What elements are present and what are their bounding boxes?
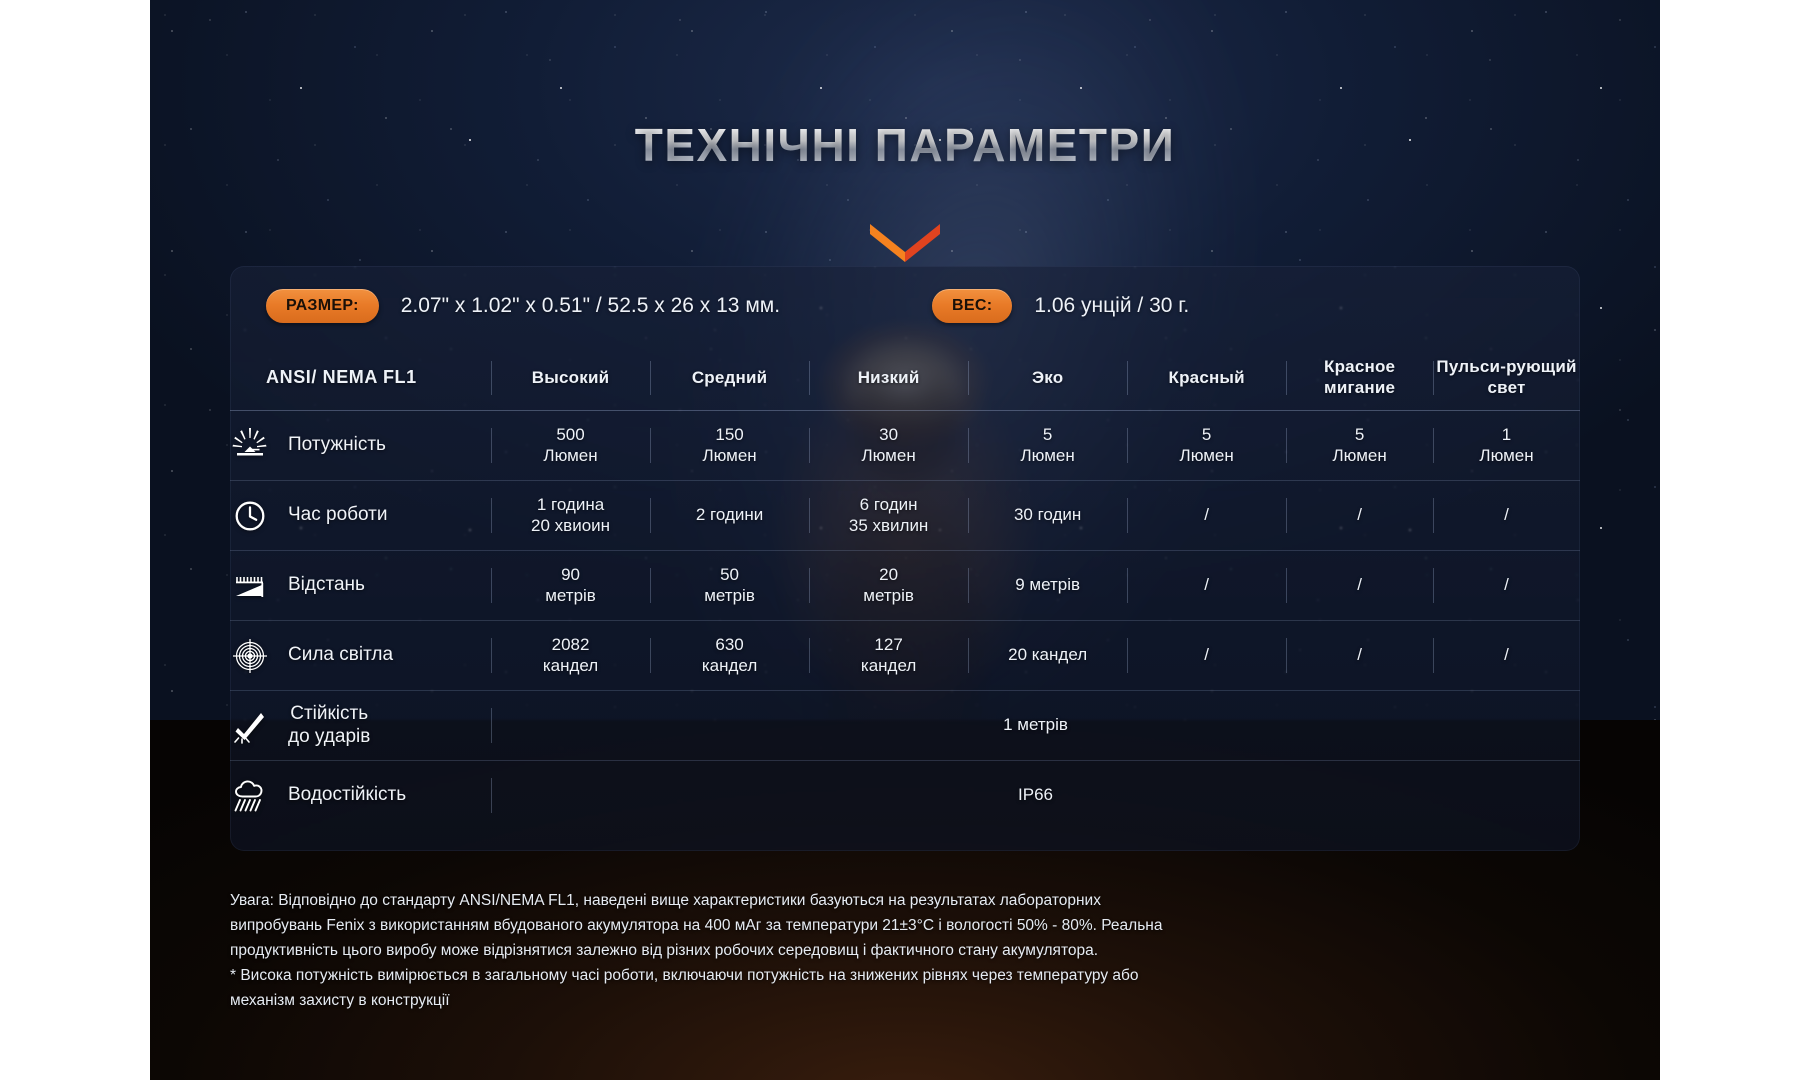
table-header: ANSI/ NEMA FL1 Высокий Средний Низкий Эк… — [230, 346, 1580, 411]
header-low: Низкий — [809, 346, 968, 411]
cell-distance-high: 90 метрів — [491, 551, 650, 621]
cell-number: 5 — [968, 425, 1127, 446]
cell-unit: метрів — [491, 586, 650, 607]
table-row: Час роботи 1 година 20 хвиоин 2 години 6… — [230, 481, 1580, 551]
cell-number: 30 — [809, 425, 968, 446]
specifications-table: ANSI/ NEMA FL1 Высокий Средний Низкий Эк… — [230, 346, 1580, 830]
cell-unit: кандел — [650, 656, 809, 677]
cell-output-medium: 150 Люмен — [650, 411, 809, 481]
row-label-intensity: Сила світла — [230, 621, 491, 691]
weight-group: ВЕС: 1.06 унцій / 30 г. — [932, 289, 1189, 323]
cell-unit: метрів — [809, 586, 968, 607]
header-medium: Средний — [650, 346, 809, 411]
cell-number: 630 — [650, 635, 809, 656]
cell-number: 1 — [1433, 425, 1580, 446]
chevron-down-icon — [868, 222, 942, 262]
size-badge: РАЗМЕР: — [266, 289, 379, 323]
cell-waterproof-value: IP66 — [491, 761, 1580, 831]
impact-resistance-icon — [230, 706, 270, 746]
row-label-text: Сила світла — [288, 644, 393, 666]
beam-distance-icon — [230, 566, 270, 606]
cell-number: 150 — [650, 425, 809, 446]
weight-value: 1.06 унцій / 30 г. — [1034, 294, 1189, 318]
cell-unit: Люмен — [650, 446, 809, 467]
impact-label-line1: Стійкість — [290, 703, 368, 724]
cell-unit: Люмен — [1433, 446, 1580, 467]
cell-intensity-pulse: / — [1433, 621, 1580, 691]
page-stage: ТЕХНІЧНІ ПАРАМЕТРИ РАЗМЕР: 2.07" x 1.02"… — [0, 0, 1800, 1080]
cell-output-red: 5 Люмен — [1127, 411, 1286, 481]
cell-output-eco: 5 Люмен — [968, 411, 1127, 481]
table-row: Потужність 500 Люмен 150 Люмен 30 — [230, 411, 1580, 481]
cell-number: 127 — [809, 635, 968, 656]
cell-intensity-high: 2082 кандел — [491, 621, 650, 691]
cell-output-low: 30 Люмен — [809, 411, 968, 481]
cell-distance-low: 20 метрів — [809, 551, 968, 621]
footer-line-2: випробувань Fenix з використанням вбудов… — [230, 913, 1560, 938]
rain-cloud-icon — [230, 776, 270, 816]
cell-runtime-red: / — [1127, 481, 1286, 551]
cell-distance-red: / — [1127, 551, 1286, 621]
summary-bar: РАЗМЕР: 2.07" x 1.02" x 0.51" / 52.5 x 2… — [230, 266, 1580, 346]
table-row: Відстань 90 метрів 50 метрів 20 — [230, 551, 1580, 621]
row-label-waterproof: Водостійкість — [230, 761, 491, 831]
impact-label-line2: до ударів — [288, 726, 370, 747]
row-label-runtime: Час роботи — [230, 481, 491, 551]
cell-runtime-eco: 30 годин — [968, 481, 1127, 551]
cell-unit: кандел — [809, 656, 968, 677]
cell-number: 9 метрів — [968, 575, 1127, 596]
footer-line-4: * Висока потужність вимірюється в загаль… — [230, 963, 1560, 988]
cell-distance-pulse: / — [1433, 551, 1580, 621]
footer-line-1: Увага: Відповідно до стандарту ANSI/NEMA… — [230, 888, 1560, 913]
cell-unit: 20 хвиоин — [491, 516, 650, 537]
cell-runtime-red-blink: / — [1286, 481, 1433, 551]
cell-unit: Люмен — [491, 446, 650, 467]
cell-impact-value: 1 метрів — [491, 691, 1580, 761]
spec-panel: РАЗМЕР: 2.07" x 1.02" x 0.51" / 52.5 x 2… — [230, 266, 1580, 851]
header-standard: ANSI/ NEMA FL1 — [230, 346, 491, 411]
footer-disclaimer: Увага: Відповідно до стандарту ANSI/NEMA… — [230, 888, 1560, 1014]
artwork-canvas: ТЕХНІЧНІ ПАРАМЕТРИ РАЗМЕР: 2.07" x 1.02"… — [150, 0, 1660, 1080]
footer-line-3: продуктивність цього виробу може відрізн… — [230, 938, 1560, 963]
weight-badge: ВЕС: — [932, 289, 1012, 323]
clock-icon — [230, 496, 270, 536]
page-title: ТЕХНІЧНІ ПАРАМЕТРИ — [150, 118, 1660, 172]
cell-intensity-eco: 20 кандел — [968, 621, 1127, 691]
cell-unit: метрів — [650, 586, 809, 607]
cell-intensity-low: 127 кандел — [809, 621, 968, 691]
cell-intensity-medium: 630 кандел — [650, 621, 809, 691]
row-label-text: Потужність — [288, 434, 386, 456]
footer-line-5: механізм захисту в конструкції — [230, 988, 1560, 1013]
header-pulse: Пульси-рующий свет — [1433, 346, 1580, 411]
cell-number: 20 — [809, 565, 968, 586]
cell-distance-eco: 9 метрів — [968, 551, 1127, 621]
cell-distance-medium: 50 метрів — [650, 551, 809, 621]
cell-unit: Люмен — [1127, 446, 1286, 467]
cell-number: 6 годин — [809, 495, 968, 516]
cell-number: 2 години — [650, 505, 809, 526]
cell-number: 20 кандел — [968, 645, 1127, 666]
cell-unit: 35 хвилин — [809, 516, 968, 537]
cell-unit: Люмен — [809, 446, 968, 467]
header-red-blink: Красное мигание — [1286, 346, 1433, 411]
row-label-text: Відстань — [288, 574, 365, 596]
size-group: РАЗМЕР: 2.07" x 1.02" x 0.51" / 52.5 x 2… — [266, 289, 780, 323]
table-row: Стійкістьдо ударів 1 метрів — [230, 691, 1580, 761]
row-label-text: Водостійкість — [288, 784, 406, 806]
table-row: Водостійкість IP66 — [230, 761, 1580, 831]
cell-intensity-red: / — [1127, 621, 1286, 691]
cell-unit: Люмен — [968, 446, 1127, 467]
row-label-text: Час роботи — [288, 504, 388, 526]
cell-number: 500 — [491, 425, 650, 446]
row-label-output: Потужність — [230, 411, 491, 481]
cell-number: 5 — [1127, 425, 1286, 446]
cell-runtime-pulse: / — [1433, 481, 1580, 551]
cell-output-red-blink: 5 Люмен — [1286, 411, 1433, 481]
table-body: Потужність 500 Люмен 150 Люмен 30 — [230, 411, 1580, 831]
row-label-text: Стійкістьдо ударів — [288, 703, 370, 748]
size-value: 2.07" x 1.02" x 0.51" / 52.5 x 26 x 13 м… — [401, 294, 780, 318]
light-intensity-target-icon — [230, 636, 270, 676]
row-label-impact: Стійкістьдо ударів — [230, 691, 491, 761]
header-red: Красный — [1127, 346, 1286, 411]
table-row: Сила світла 2082 кандел 630 кандел 12 — [230, 621, 1580, 691]
cell-number: 1 година — [491, 495, 650, 516]
cell-number: 30 годин — [968, 505, 1127, 526]
cell-number: 50 — [650, 565, 809, 586]
cell-intensity-red-blink: / — [1286, 621, 1433, 691]
cell-number: 5 — [1286, 425, 1433, 446]
cell-runtime-high: 1 година 20 хвиоин — [491, 481, 650, 551]
cell-unit: Люмен — [1286, 446, 1433, 467]
cell-unit: кандел — [491, 656, 650, 677]
cell-number: 90 — [491, 565, 650, 586]
cell-runtime-low: 6 годин 35 хвилин — [809, 481, 968, 551]
cell-number: 2082 — [491, 635, 650, 656]
cell-output-high: 500 Люмен — [491, 411, 650, 481]
header-high: Высокий — [491, 346, 650, 411]
cell-output-pulse: 1 Люмен — [1433, 411, 1580, 481]
header-eco: Эко — [968, 346, 1127, 411]
cell-runtime-medium: 2 години — [650, 481, 809, 551]
light-burst-icon — [230, 426, 270, 466]
cell-distance-red-blink: / — [1286, 551, 1433, 621]
row-label-distance: Відстань — [230, 551, 491, 621]
